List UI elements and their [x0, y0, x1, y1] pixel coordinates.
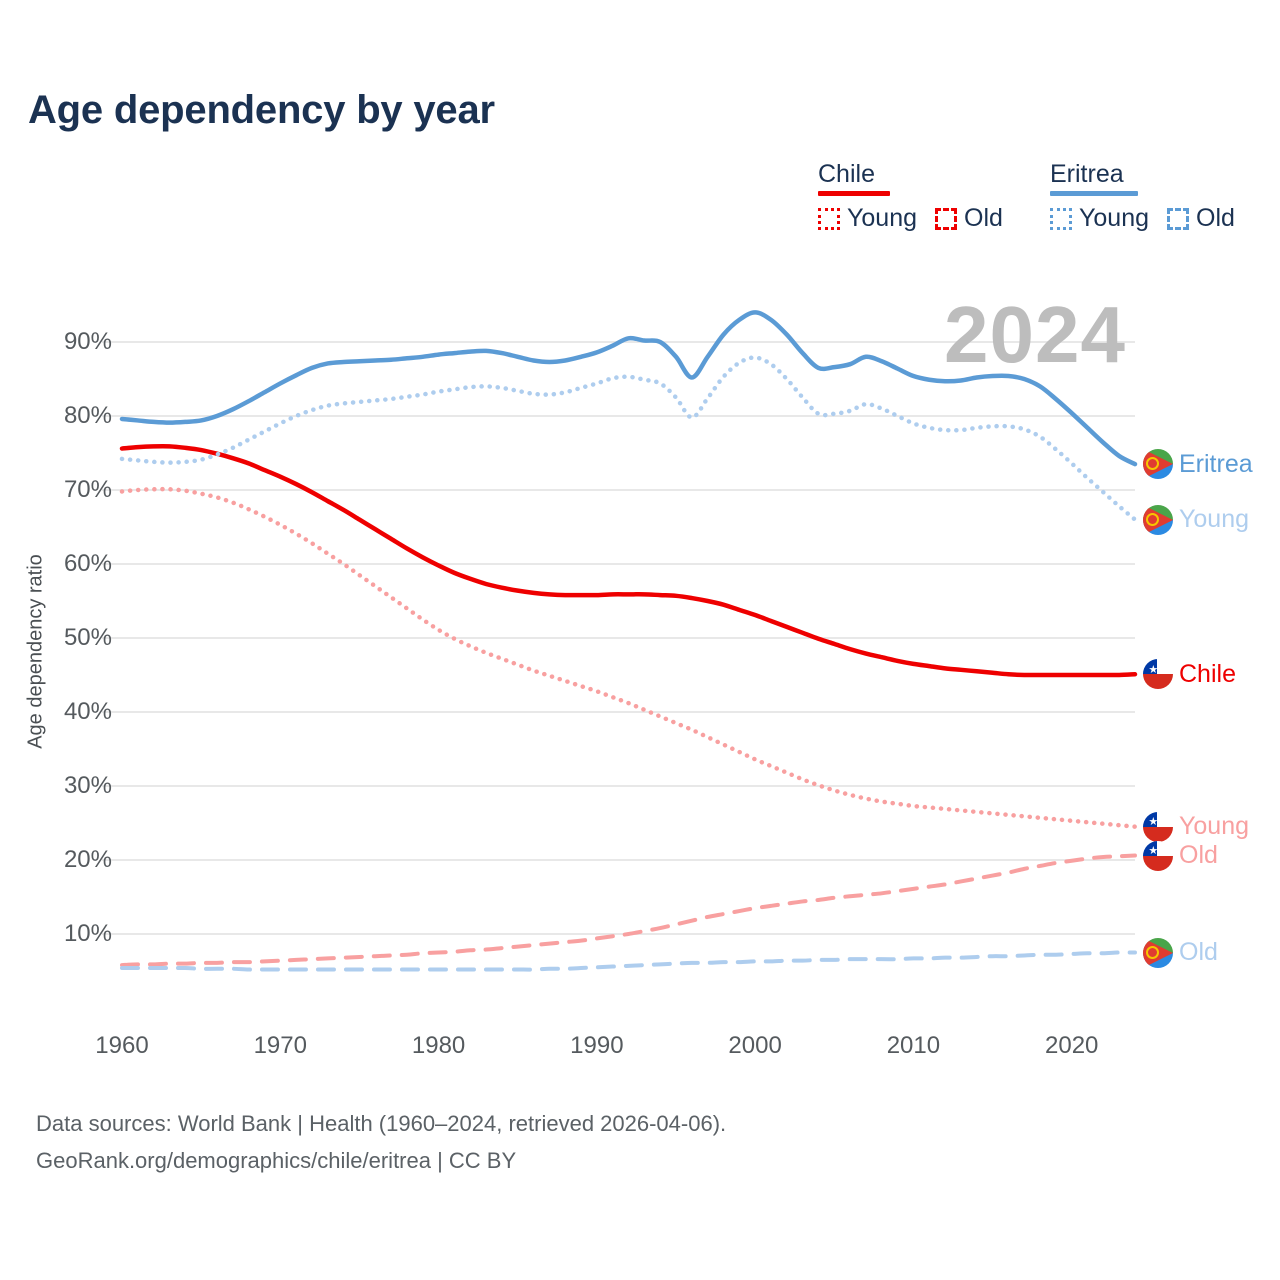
y-axis-label: Age dependency ratio — [25, 532, 48, 772]
series-end-label: ★Old — [1143, 841, 1218, 871]
y-tick-label: 70% — [64, 476, 112, 504]
series-end-label-text: Old — [1179, 843, 1218, 868]
series-end-label-text: Young — [1179, 814, 1249, 839]
line-chart-plot — [0, 0, 1280, 1280]
series-end-label: Old — [1143, 938, 1218, 968]
x-tick-label: 1970 — [254, 1032, 307, 1060]
series-end-label-text: Young — [1179, 507, 1249, 532]
y-tick-label: 20% — [64, 846, 112, 874]
series-end-label: ★Young — [1143, 812, 1249, 842]
year-watermark: 2024 — [944, 295, 1126, 375]
x-tick-label: 1960 — [95, 1032, 148, 1060]
series-line-chile — [122, 446, 1135, 675]
y-tick-label: 60% — [64, 550, 112, 578]
chile-flag-icon: ★ — [1143, 659, 1173, 689]
footer-credits: Data sources: World Bank | Health (1960–… — [36, 1105, 726, 1179]
y-axis-ticks: 10%20%30%40%50%60%70%80%90% — [0, 0, 112, 1280]
y-tick-label: 50% — [64, 624, 112, 652]
y-tick-label: 90% — [64, 328, 112, 356]
x-tick-label: 2020 — [1045, 1032, 1098, 1060]
chile-flag-icon: ★ — [1143, 812, 1173, 842]
eritrea-flag-icon — [1143, 449, 1173, 479]
footer-line-1: Data sources: World Bank | Health (1960–… — [36, 1105, 726, 1142]
series-line-chile-young — [122, 489, 1135, 827]
series-line-eritrea-young — [122, 358, 1135, 520]
eritrea-flag-icon — [1143, 505, 1173, 535]
y-tick-label: 30% — [64, 772, 112, 800]
series-end-label-text: Chile — [1179, 662, 1236, 687]
x-tick-label: 1990 — [570, 1032, 623, 1060]
footer-line-2: GeoRank.org/demographics/chile/eritrea |… — [36, 1142, 726, 1179]
x-tick-label: 2010 — [887, 1032, 940, 1060]
series-end-label: Young — [1143, 505, 1249, 535]
x-tick-label: 1980 — [412, 1032, 465, 1060]
series-end-label: ★Chile — [1143, 659, 1236, 689]
chile-flag-icon: ★ — [1143, 841, 1173, 871]
series-end-label-text: Old — [1179, 940, 1218, 965]
y-tick-label: 10% — [64, 920, 112, 948]
eritrea-flag-icon — [1143, 938, 1173, 968]
series-end-label-text: Eritrea — [1179, 452, 1253, 477]
y-tick-label: 40% — [64, 698, 112, 726]
series-line-chile-old — [122, 856, 1135, 966]
series-end-label: Eritrea — [1143, 449, 1253, 479]
y-tick-label: 80% — [64, 402, 112, 430]
x-tick-label: 2000 — [728, 1032, 781, 1060]
